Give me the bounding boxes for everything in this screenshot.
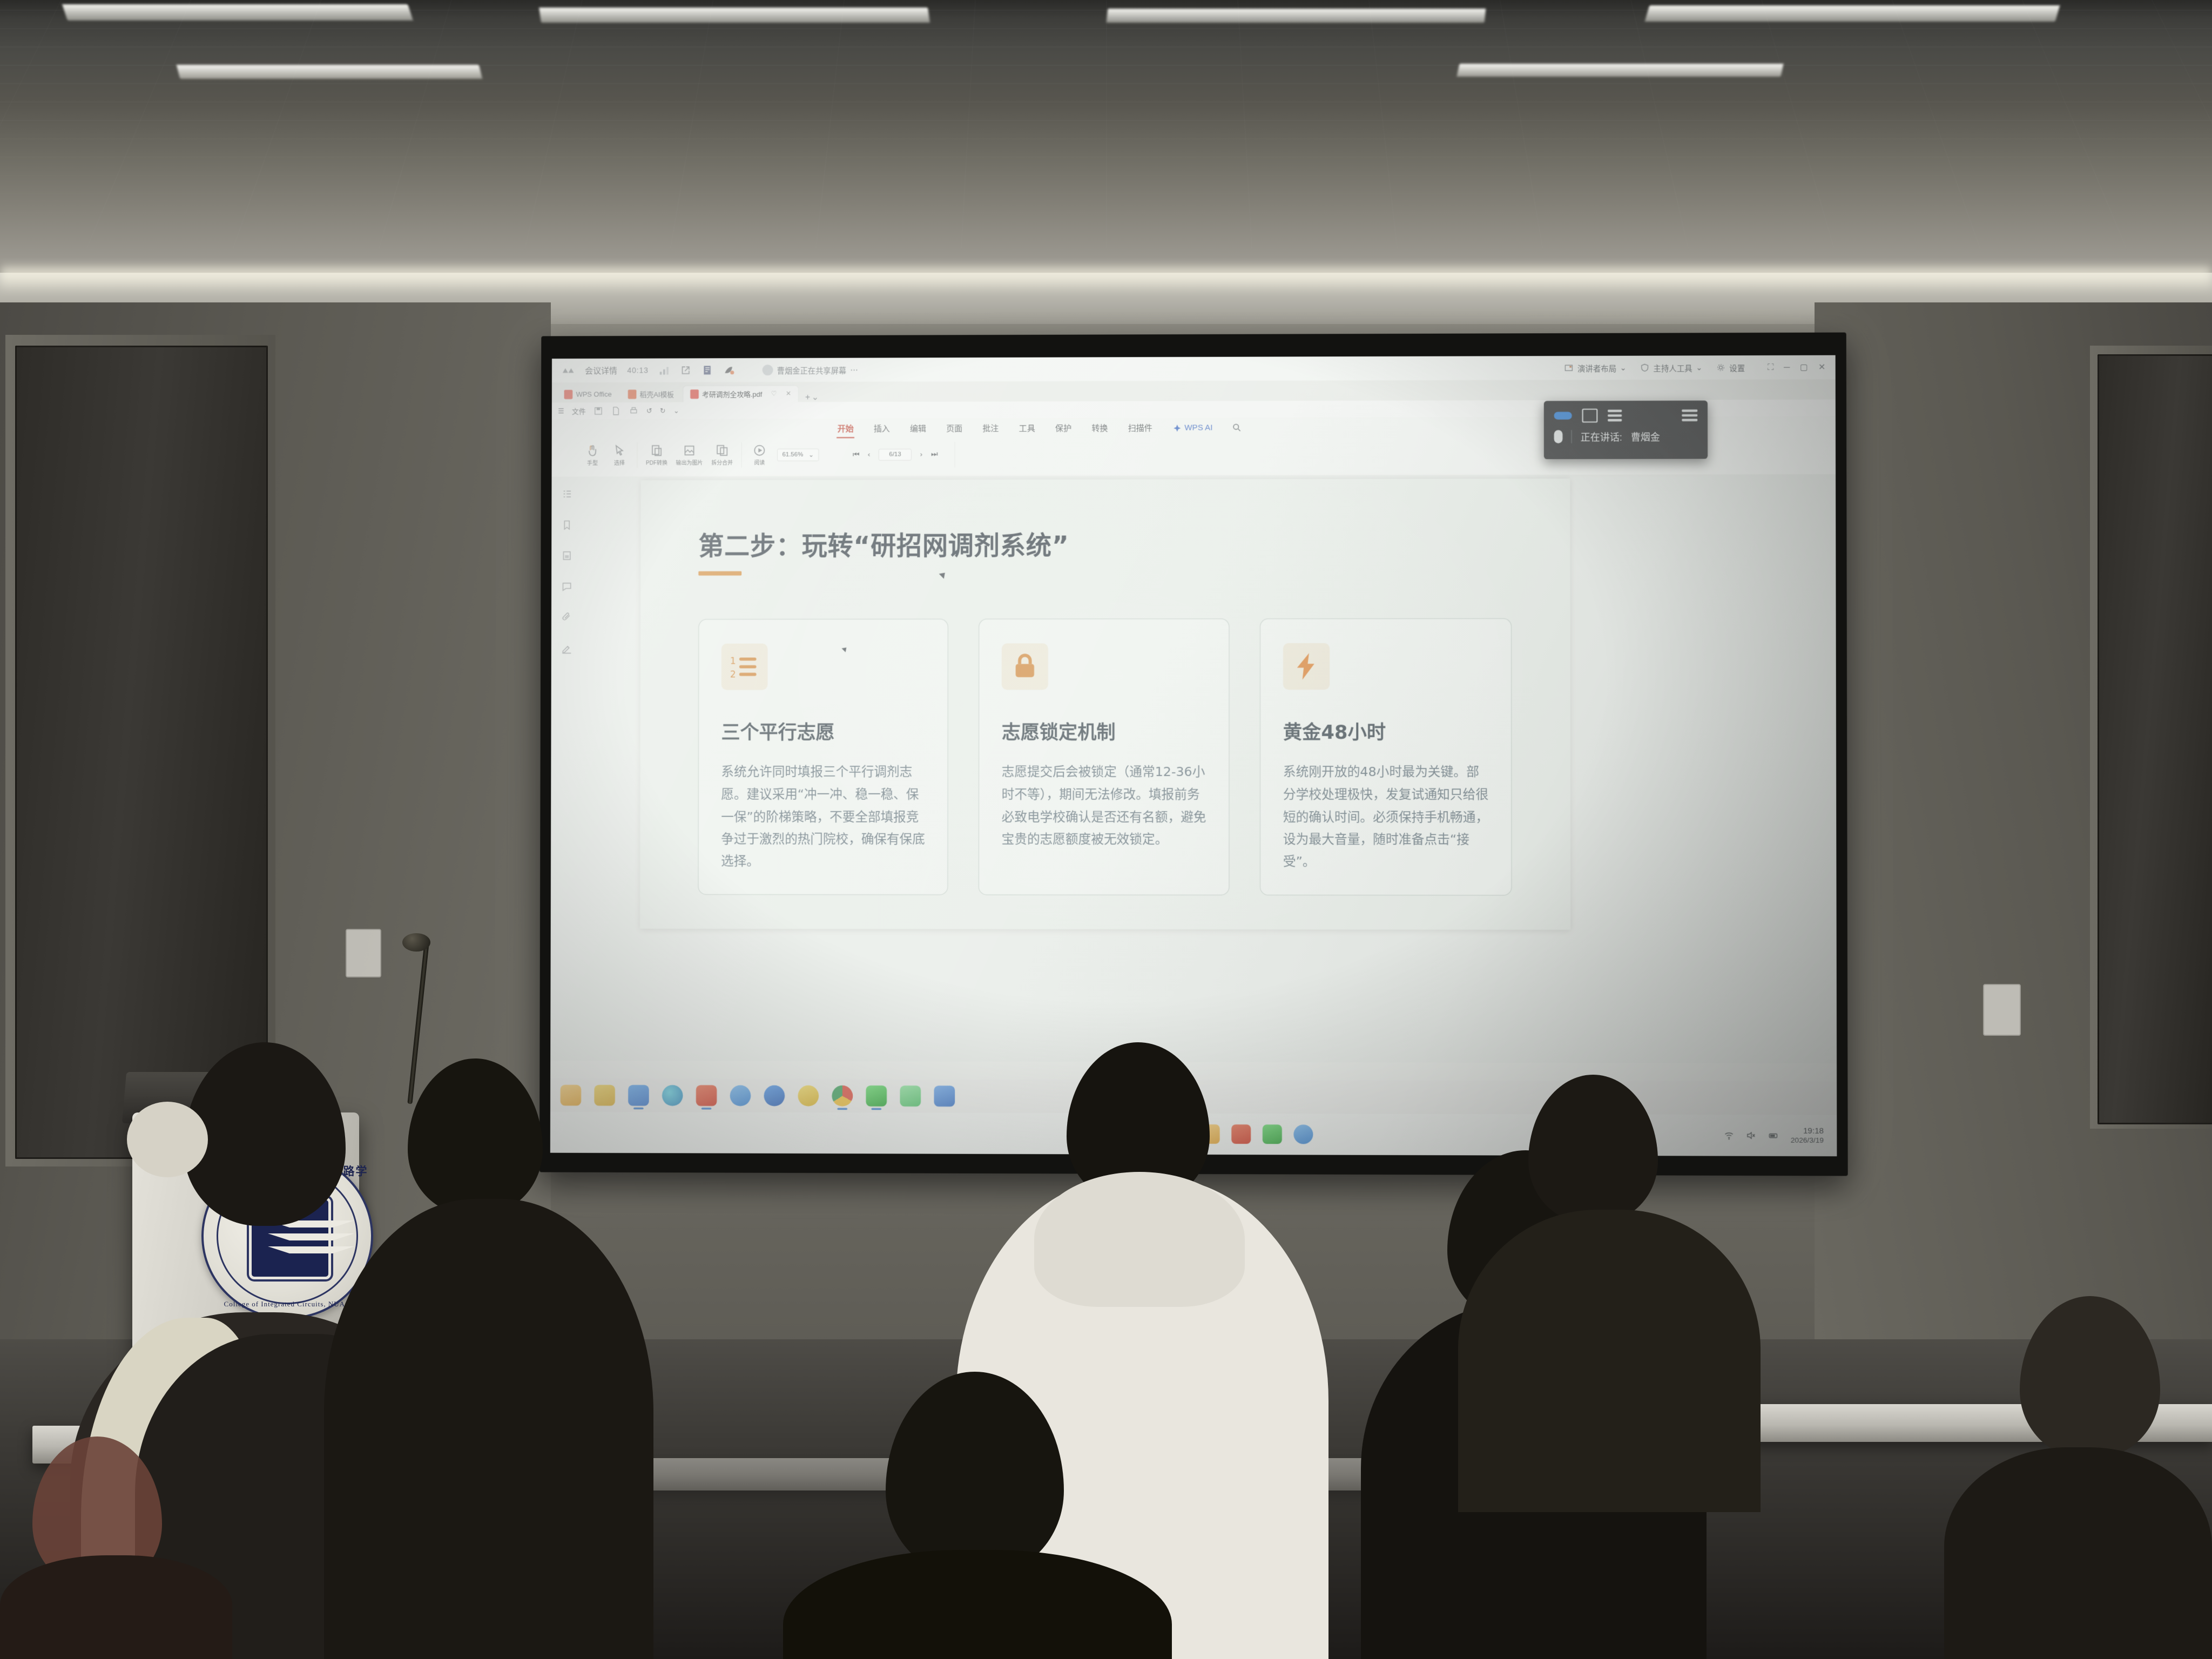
card-row: 1 2 三个平行志愿 — [698, 618, 1512, 896]
tab-page[interactable]: 页面 — [946, 421, 963, 435]
sharing-status-text: 曹烟金正在共享屏幕 — [777, 364, 847, 375]
share-status: 曹烟金正在共享屏幕 ⋯ — [763, 364, 858, 375]
zoom-level-value: 61.56% — [782, 451, 803, 458]
toolbar-group-selection: 手型 选择 — [575, 442, 637, 468]
lock-icon — [1009, 651, 1041, 683]
undo-icon[interactable]: ↺ — [646, 407, 652, 415]
speaking-label: 正在讲话: — [1581, 429, 1622, 443]
document-area: 第二步：玩转“研招网调剂系统” 1 2 — [550, 474, 1837, 1063]
whiteboard-icon[interactable] — [702, 365, 713, 376]
tab-home[interactable]: 开始 — [837, 421, 854, 436]
ceiling-light-6 — [1456, 64, 1783, 77]
wps-tab-home[interactable]: WPS Office — [557, 386, 619, 402]
audience-hair-bun — [127, 1102, 208, 1177]
speaker-layout-button[interactable]: 演讲者布局⌄ — [1564, 362, 1627, 374]
battery-icon[interactable] — [1767, 1130, 1781, 1141]
divider — [1571, 430, 1572, 443]
new-tab-button[interactable]: +⌄ — [805, 392, 819, 402]
split-merge-icon — [716, 444, 729, 457]
wps-tab-docer-label: 稻壳AI模板 — [640, 389, 674, 400]
toolbar-group-convert: PDF转换 输出为图片 拆分合并 — [637, 442, 741, 468]
search-icon[interactable] — [1232, 423, 1242, 433]
audience-body — [1458, 1210, 1761, 1512]
card-body: 系统刚开放的48小时最为关键。部分学校处理极快，发复试通知只给很短的确认时间。必… — [1283, 761, 1488, 873]
ceiling-light-2 — [539, 8, 930, 23]
wechat-icon[interactable] — [866, 1085, 887, 1107]
comment-icon[interactable] — [561, 581, 572, 592]
panel-toolbar — [1544, 401, 1708, 423]
file-menu-button[interactable]: 文件 — [572, 406, 586, 416]
avatar — [763, 365, 773, 375]
wps-tab-docer[interactable]: 稻壳AI模板 — [621, 386, 681, 402]
bookmark-icon[interactable] — [561, 519, 572, 530]
settings-button[interactable]: 设置 — [1716, 362, 1745, 373]
docer-icon — [628, 390, 637, 399]
chevron-down-icon[interactable]: ⌄ — [808, 451, 814, 458]
ordered-list-icon: 1 2 — [729, 651, 760, 683]
settings-label: 设置 — [1729, 362, 1745, 373]
chrome-icon[interactable] — [832, 1085, 853, 1107]
read-mode-button[interactable]: 阅读 — [750, 443, 768, 466]
clock-time: 19:18 — [1803, 1125, 1824, 1136]
tencent-meeting-icon[interactable] — [730, 1085, 751, 1106]
audience-body — [0, 1555, 232, 1659]
projection-screen: 会议详情 40:13 — [550, 355, 1837, 1156]
annotate-icon[interactable] — [723, 365, 734, 376]
menu-icon[interactable]: ☰ — [558, 407, 564, 415]
wifi-icon[interactable] — [1723, 1130, 1735, 1141]
prev-page-icon[interactable]: ‹ — [868, 450, 871, 459]
pdf-convert-button[interactable]: PDF转换 — [646, 444, 667, 467]
tab-comment[interactable]: 批注 — [982, 421, 1000, 435]
select-tool-button[interactable]: 选择 — [610, 444, 629, 467]
status-badge — [1554, 412, 1572, 420]
gear-icon — [1716, 363, 1726, 372]
hand-tool-label: 手型 — [587, 459, 598, 467]
card-golden-48h: 黄金48小时 系统刚开放的48小时最为关键。部分学校处理极快，发复试通知只给很短… — [1260, 618, 1512, 896]
card-body: 志愿提交后会被锁定（通常12-36小时不等），期间无法修改。填报前务必致电学校确… — [1002, 761, 1206, 851]
xiaomi-icon[interactable] — [934, 1085, 955, 1107]
right-door[interactable] — [2098, 354, 2212, 1124]
tab-insert[interactable]: 插入 — [873, 421, 891, 436]
export-image-icon — [683, 444, 696, 457]
messages-icon[interactable] — [900, 1085, 921, 1107]
card-heading: 三个平行志愿 — [721, 717, 925, 745]
tab-wps-ai-label: WPS AI — [1184, 423, 1212, 432]
split-merge-button[interactable]: 拆分合并 — [711, 444, 733, 467]
tencent-meeting-logo-icon — [562, 366, 575, 375]
wps-tab-document[interactable]: 考研调剂全攻略.pdf ♡ ✕ — [683, 386, 798, 402]
new-tab-label: + — [805, 392, 810, 402]
card-icon-wrapper: 1 2 — [721, 644, 768, 690]
pdf-convert-icon — [650, 444, 663, 457]
tab-wps-ai[interactable]: WPS AI — [1172, 422, 1213, 434]
wechat-icon[interactable] — [1262, 1124, 1282, 1144]
next-page-icon[interactable]: › — [920, 450, 923, 459]
read-mode-icon — [753, 443, 766, 456]
wps-tab-document-label: 考研调剂全攻略.pdf — [702, 389, 762, 399]
wps-tab-strip: WPS Office 稻壳AI模板 考研调剂全攻略.pdf ♡ ✕ — [552, 379, 1836, 402]
pdf-page: 第二步：玩转“研招网调剂系统” 1 2 — [640, 478, 1570, 929]
meeting-toolbar: 会议详情 40:13 — [552, 355, 1836, 383]
wps-logo-icon — [564, 390, 573, 399]
export-image-label: 输出为图片 — [676, 459, 703, 467]
card-body: 系统允许同时填报三个平行调剂志愿。建议采用“冲一冲、稳一稳、保一保”的阶梯策略，… — [721, 761, 925, 873]
chevron-down-icon: ⌄ — [1696, 363, 1702, 373]
zoom-level-control[interactable]: 61.56% ⌄ — [777, 449, 819, 461]
shield-icon — [1640, 363, 1650, 372]
wps-icon[interactable] — [1231, 1124, 1251, 1144]
card-icon-wrapper — [1283, 643, 1330, 690]
read-mode-label: 阅读 — [754, 458, 765, 466]
meeting-detail-label[interactable]: 会议详情 — [585, 365, 617, 376]
tab-edit[interactable]: 编辑 — [909, 421, 927, 436]
new-doc-icon[interactable] — [611, 406, 621, 416]
meeting-right-controls: 演讲者布局⌄ 主持人工具⌄ 设置 ⛶ — [1564, 362, 1826, 374]
layout-icon — [1564, 363, 1574, 373]
microphone-icon — [402, 933, 430, 952]
windows-desktop: 会议详情 40:13 — [550, 355, 1837, 1156]
floating-meeting-panel[interactable]: 正在讲话: 曹烟金 — [1544, 401, 1708, 460]
ceiling — [0, 0, 2212, 302]
card-icon-wrapper — [1002, 643, 1048, 690]
pdf-file-icon — [690, 389, 699, 399]
last-page-icon[interactable]: ⏭ — [931, 450, 938, 459]
chevron-down-icon: ⌄ — [812, 392, 819, 402]
speaker-layout-label: 演讲者布局 — [1577, 362, 1616, 374]
edge-icon[interactable] — [662, 1085, 683, 1106]
projection-screen-frame: 会议详情 40:13 — [539, 333, 1848, 1176]
clock-date: 2026/3/19 — [1791, 1136, 1824, 1145]
save-icon[interactable] — [594, 406, 604, 416]
title-underline-rule — [698, 571, 741, 576]
tencent-meeting-icon[interactable] — [1293, 1124, 1313, 1144]
slide-content: 第二步：玩转“研招网调剂系统” 1 2 — [640, 478, 1570, 929]
toolbar-group-view: 阅读 61.56% ⌄ ⏮ ‹ — [741, 442, 955, 468]
minimize-icon[interactable]: ─ — [1784, 362, 1790, 373]
outline-icon[interactable] — [561, 488, 572, 500]
ribbon-tabs: 开始 插入 编辑 页面 批注 工具 保护 转换 扫描件 WPS AI — [837, 418, 1242, 438]
host-tools-label: 主持人工具 — [1653, 362, 1692, 373]
audience-body — [1944, 1447, 2212, 1659]
light-switch-right[interactable] — [1983, 984, 2021, 1036]
ceiling-light-4 — [1645, 5, 2060, 22]
microphone-icon[interactable] — [1554, 430, 1563, 443]
system-tray: 19:18 2026/3/19 — [1723, 1125, 1824, 1145]
ceiling-grid — [0, 0, 2212, 254]
ceiling-light-1 — [62, 4, 413, 21]
meeting-timer: 40:13 — [627, 366, 648, 375]
speaker-name: 曹烟金 — [1631, 429, 1660, 443]
qq-icon[interactable] — [798, 1085, 819, 1107]
wechat-work-icon[interactable] — [594, 1085, 615, 1106]
hand-tool-icon — [586, 444, 599, 457]
export-image-button[interactable]: 输出为图片 — [676, 444, 703, 467]
volume-muted-icon[interactable] — [1745, 1130, 1757, 1141]
first-page-icon[interactable]: ⏮ — [853, 450, 859, 459]
tab-protect[interactable]: 保护 — [1055, 421, 1073, 435]
redo-icon[interactable]: ↻ — [660, 407, 666, 415]
split-merge-label: 拆分合并 — [711, 458, 733, 466]
card-parallel-choices: 1 2 三个平行志愿 — [698, 619, 948, 895]
left-door[interactable] — [15, 346, 268, 1159]
audience-hood — [1034, 1172, 1245, 1307]
card-heading: 志愿锁定机制 — [1002, 717, 1206, 744]
network-signal-icon — [658, 365, 670, 376]
wps-tab-home-label: WPS Office — [576, 390, 612, 399]
thumbnail-icon[interactable] — [561, 550, 572, 561]
file-explorer-icon[interactable] — [561, 1085, 582, 1106]
lecture-hall-photo: 会议详情 40:13 — [0, 0, 2212, 1659]
pdf-convert-label: PDF转换 — [646, 459, 667, 467]
participant-list-icon[interactable] — [1608, 410, 1622, 422]
host-tools-button[interactable]: 主持人工具⌄ — [1640, 362, 1702, 373]
print-icon[interactable] — [629, 406, 639, 416]
tab-convert[interactable]: 转换 — [1091, 421, 1109, 435]
card-lock-mechanism: 志愿锁定机制 志愿提交后会被锁定（通常12-36小时不等），期间无法修改。填报前… — [979, 618, 1230, 895]
svg-text:2: 2 — [730, 669, 736, 680]
restore-icon[interactable]: ▢ — [1800, 362, 1808, 373]
close-icon[interactable]: ✕ — [786, 390, 791, 397]
speaking-status: 正在讲话: 曹烟金 — [1544, 422, 1708, 443]
lightning-bolt-icon — [1291, 651, 1323, 683]
card-heading: 黄金48小时 — [1283, 717, 1488, 744]
collapse-panel-icon[interactable] — [1682, 409, 1697, 421]
attachment-icon[interactable] — [561, 612, 572, 623]
page-title: 第二步：玩转“研招网调剂系统” — [698, 524, 1512, 563]
audience-body — [324, 1199, 653, 1659]
ai-sparkle-icon — [1172, 423, 1182, 432]
select-tool-icon — [613, 444, 626, 457]
dingtalk-icon[interactable] — [628, 1085, 649, 1106]
layout-icon[interactable] — [1582, 409, 1597, 423]
chevron-down-icon: ⌄ — [1620, 363, 1627, 373]
pin-icon[interactable]: ♡ — [771, 390, 777, 397]
ceiling-light-3 — [1107, 9, 1486, 23]
chevron-down-icon[interactable]: ⌄ — [673, 407, 679, 415]
share-screen-icon[interactable] — [680, 365, 691, 376]
wps-pdf-window: 开始 插入 编辑 页面 批注 工具 保护 转换 扫描件 WPS AI — [550, 416, 1837, 1063]
close-icon[interactable]: ✕ — [1818, 362, 1825, 373]
page-indicator[interactable]: 6/13 — [879, 449, 912, 461]
select-tool-label: 选择 — [614, 459, 625, 467]
light-switch-left[interactable] — [346, 929, 381, 977]
tab-scan[interactable]: 扫描件 — [1127, 421, 1153, 435]
taskbar-clock[interactable]: 19:18 2026/3/19 — [1791, 1125, 1824, 1145]
tab-tools[interactable]: 工具 — [1018, 421, 1036, 435]
ceiling-light-5 — [177, 65, 482, 79]
more-icon[interactable]: ⋯ — [850, 365, 858, 375]
qq-browser-icon[interactable] — [764, 1085, 785, 1107]
wps-icon[interactable] — [696, 1085, 717, 1106]
cove-light-glow — [0, 267, 2212, 290]
annotate-pen-icon[interactable] — [561, 643, 572, 654]
svg-text:1: 1 — [730, 656, 736, 667]
side-panel-toolbar — [555, 488, 578, 654]
fullscreen-icon[interactable]: ⛶ — [1768, 362, 1773, 373]
hand-tool-button[interactable]: 手型 — [583, 444, 602, 467]
window-controls: ⛶ ─ ▢ ✕ — [1768, 362, 1825, 373]
toolbar-group-extra — [955, 442, 997, 467]
